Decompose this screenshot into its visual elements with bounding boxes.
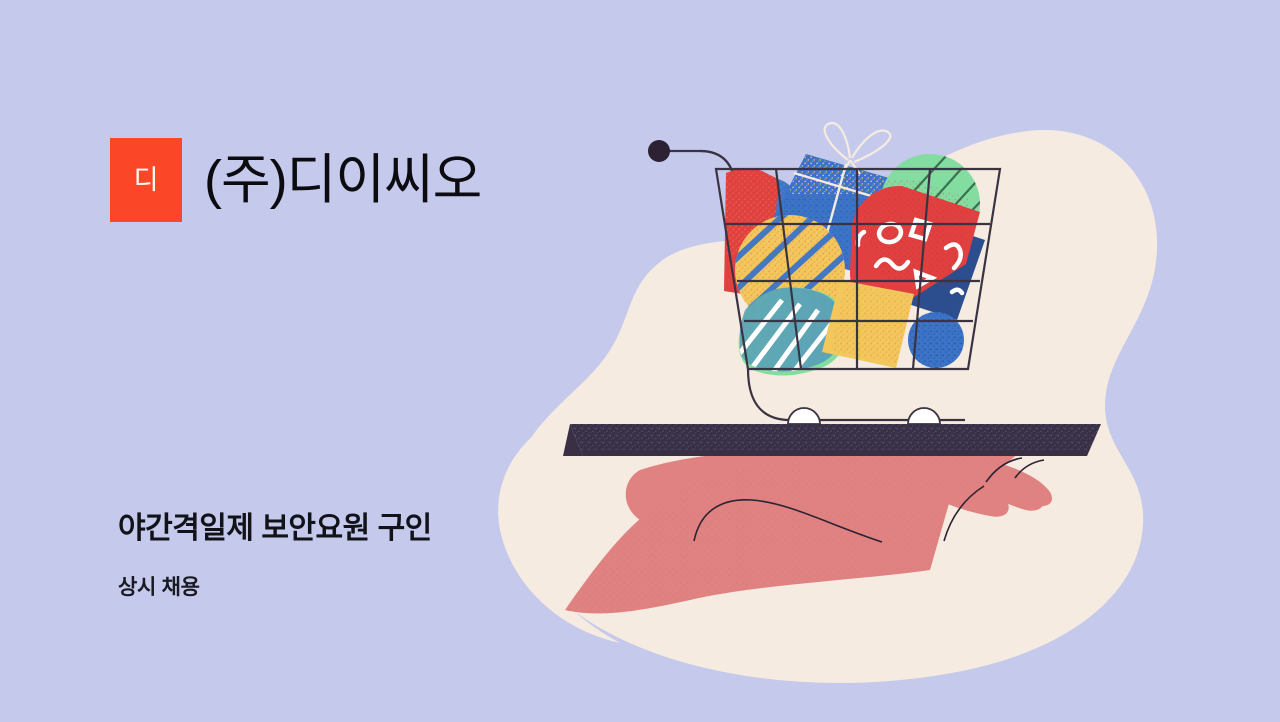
cart-handle-knob — [648, 140, 670, 162]
item-blue-gift-box — [750, 123, 900, 280]
platform-left-bevel — [563, 424, 583, 456]
ribbon-bow-tail — [842, 160, 860, 176]
cart-handle-curve — [700, 151, 735, 190]
employment-type-label: 상시 채용 — [118, 575, 200, 600]
cart-divider-3 — [913, 169, 930, 369]
item-green-striped-circle — [880, 154, 984, 260]
item-red-patterned-gift — [840, 180, 1000, 330]
cream-blob — [510, 130, 1157, 683]
shopping-cart — [648, 123, 1000, 424]
ribbon-bow-left — [825, 123, 850, 160]
cart-wheel-right — [908, 408, 940, 424]
arm-and-palm — [565, 452, 1020, 613]
background-fill — [0, 0, 1280, 722]
cart-wheel-left — [788, 408, 820, 424]
cream-blob-left-lobe — [498, 405, 620, 643]
cart-frame — [716, 169, 1000, 420]
job-title: 야간격일제 보안요원 구인 — [118, 511, 432, 547]
hand-group — [565, 450, 1052, 613]
dark-platform — [563, 424, 1101, 456]
item-yellow-striped-ball — [726, 200, 848, 326]
cart-divider-1 — [776, 169, 801, 369]
finger-index — [895, 455, 1009, 517]
ribbon-bow-right — [852, 131, 890, 162]
cart-lower-frame — [748, 369, 965, 420]
job-posting-card: 디 (주)디이씨오 야간격일제 보안요원 구인 상시 채용 — [0, 0, 1280, 722]
ribbon-vertical — [818, 164, 846, 266]
finger-crease-2 — [986, 458, 1022, 482]
company-logo-badge[interactable]: 디 — [110, 138, 182, 222]
cart-wheels — [788, 408, 940, 424]
palm-crease — [694, 500, 882, 542]
item-green-blue-blob — [736, 285, 860, 385]
finger-middle — [938, 455, 1044, 511]
item-red-blue-gift — [710, 165, 800, 297]
platform-slab — [570, 424, 1101, 456]
company-header: 디 (주)디이씨오 — [110, 137, 481, 223]
company-name: (주)디이씨오 — [204, 153, 481, 207]
item-blue-ball — [906, 310, 968, 372]
finger-crease-1 — [944, 486, 984, 541]
thumb — [626, 450, 910, 520]
ribbon-horizontal — [794, 173, 878, 198]
finger-crease-3 — [1015, 460, 1044, 478]
cart-basket-outline — [716, 169, 1000, 369]
item-orange-gift-box — [815, 275, 925, 375]
company-logo-initial: 디 — [134, 167, 159, 194]
gift-pattern-marks — [858, 220, 962, 293]
finger-ring — [980, 460, 1052, 506]
cart-handle — [668, 151, 734, 184]
hand-holding-shopping-cart-illustration — [0, 0, 1280, 722]
